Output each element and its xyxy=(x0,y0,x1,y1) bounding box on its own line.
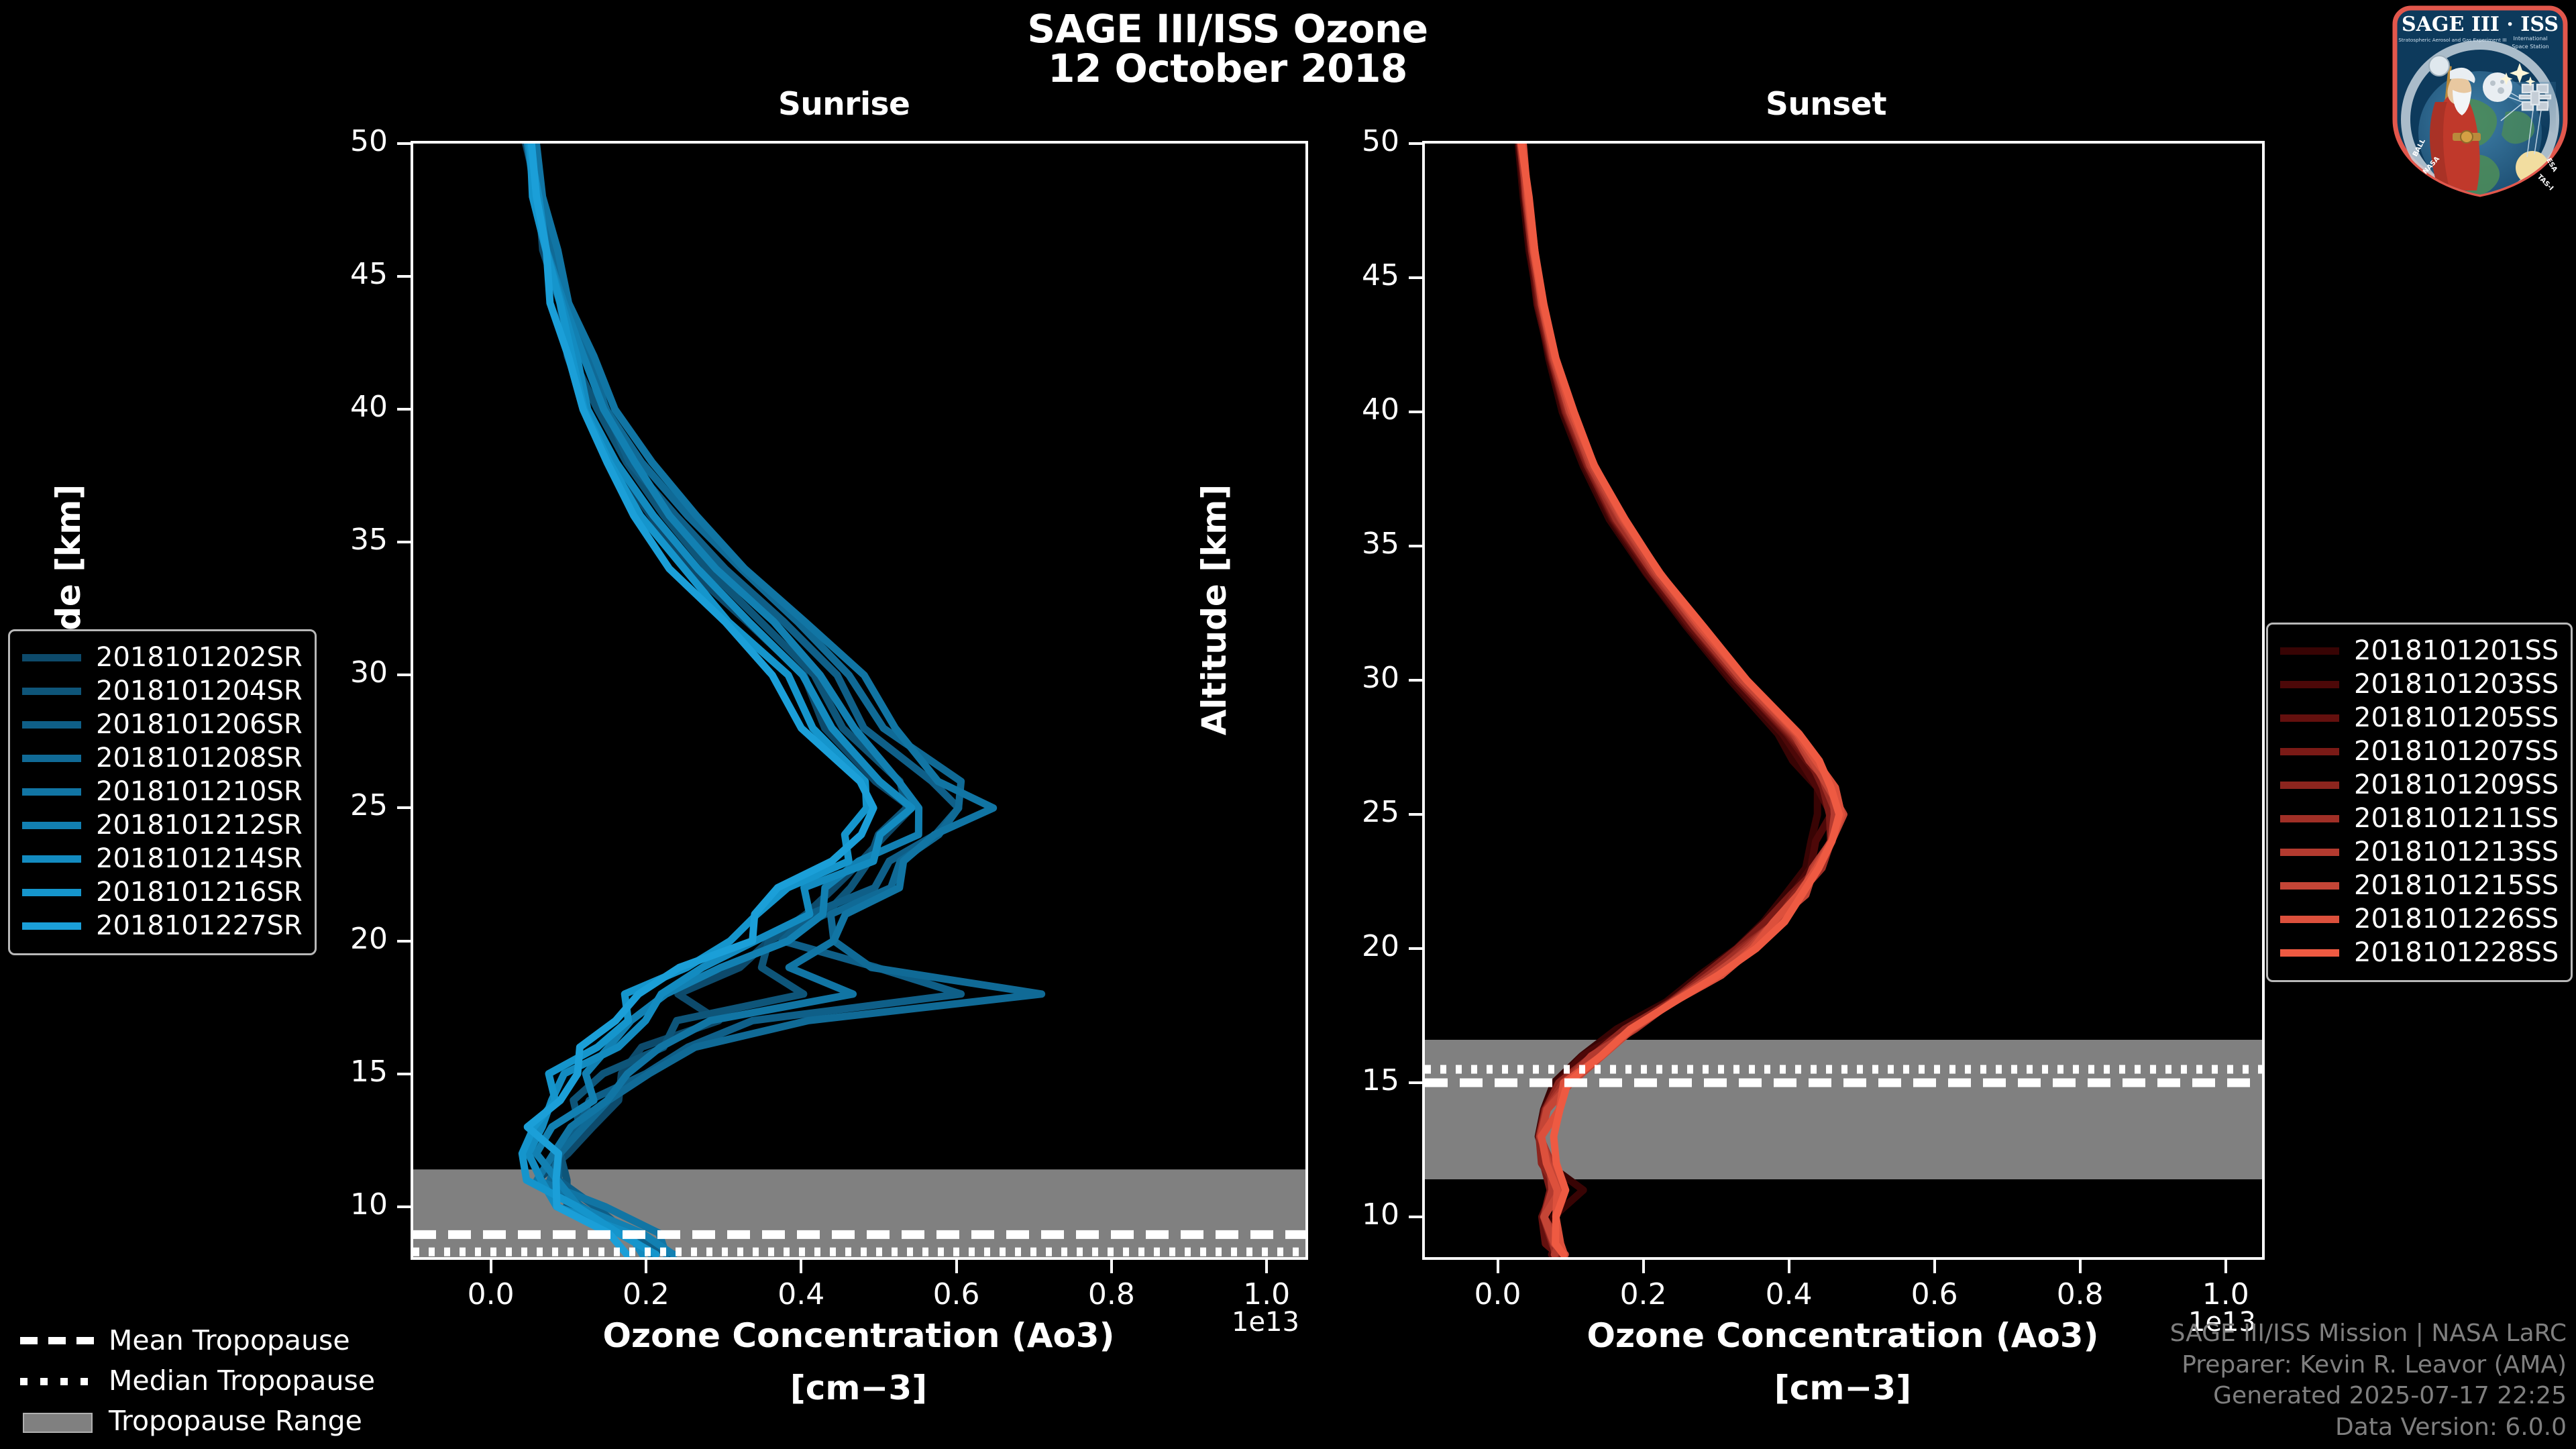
dotted-line-icon xyxy=(20,1373,94,1389)
y-tick-label: 15 xyxy=(1305,1063,1399,1097)
sunset-series-canvas xyxy=(1425,144,2262,1257)
x-axis-label-right: Ozone Concentration (Ao3) xyxy=(1421,1316,2265,1355)
sunset-series-legend[interactable]: 2018101201SS2018101203SS2018101205SS2018… xyxy=(2266,623,2573,982)
y-tick-label: 45 xyxy=(1305,258,1399,292)
y-tick-mark xyxy=(1409,679,1422,682)
legend-item-median-tropopause: Median Tropopause xyxy=(20,1360,375,1401)
y-tick-label: 40 xyxy=(1305,392,1399,427)
x-tick-label: 0.4 xyxy=(1742,1277,1836,1311)
sunset-plot-area xyxy=(1422,141,2265,1260)
series-color-swatch xyxy=(2280,916,2339,923)
legend-item[interactable]: 2018101207SS xyxy=(2280,735,2559,768)
series-color-swatch xyxy=(2280,681,2339,688)
x-tick-mark xyxy=(1642,1260,1645,1273)
patch-subtitle-right-1: International xyxy=(2513,36,2547,42)
series-color-swatch xyxy=(2280,748,2339,755)
y-tick-label: 20 xyxy=(1305,929,1399,963)
x-tick-label: 0.2 xyxy=(1597,1277,1690,1311)
credits-line-1: SAGE III/ISS Mission | NASA LaRC xyxy=(2170,1318,2567,1350)
legend-item[interactable]: 2018101212SR xyxy=(22,808,303,842)
series-legend-label: 2018101201SS xyxy=(2354,635,2559,666)
series-color-swatch xyxy=(22,755,81,762)
series-color-swatch xyxy=(22,688,81,695)
y-tick-label: 25 xyxy=(1305,795,1399,829)
y-tick-label: 50 xyxy=(1305,124,1399,158)
series-color-swatch xyxy=(2280,849,2339,856)
series-color-swatch xyxy=(22,721,81,729)
y-tick-label: 30 xyxy=(1305,661,1399,695)
legend-item[interactable]: 2018101201SS xyxy=(2280,634,2559,667)
series-legend-label: 2018101210SR xyxy=(96,776,303,807)
series-color-swatch xyxy=(2280,782,2339,789)
x-tick-label: 0.8 xyxy=(2033,1277,2127,1311)
y-tick-mark xyxy=(1409,142,1422,145)
series-color-swatch xyxy=(2280,647,2339,655)
legend-item[interactable]: 2018101228SS xyxy=(2280,936,2559,969)
tropopause-legend: Mean Tropopause Median Tropopause Tropop… xyxy=(20,1320,375,1441)
series-legend-label: 2018101212SR xyxy=(96,810,303,841)
sage-iii-iss-mission-patch-logo: BALL NASA ESA TAS-I SAGE III · ISS Strat… xyxy=(2388,1,2572,200)
y-tick-mark xyxy=(1409,813,1422,816)
patch-subtitle-left: Stratospheric Aerosol and Gas Experiment… xyxy=(2398,37,2506,43)
series-legend-label: 2018101207SS xyxy=(2354,736,2559,767)
series-color-swatch xyxy=(22,654,81,661)
series-legend-label: 2018101208SR xyxy=(96,743,303,773)
y-tick-mark xyxy=(1409,1216,1422,1218)
y-tick-mark xyxy=(1409,545,1422,547)
series-legend-label: 2018101202SR xyxy=(96,642,303,673)
dashed-line-icon xyxy=(20,1332,94,1348)
legend-item[interactable]: 2018101209SS xyxy=(2280,768,2559,802)
y-tick-mark xyxy=(1409,276,1422,279)
x-tick-label: 0.0 xyxy=(1451,1277,1545,1311)
series-legend-label: 2018101209SS xyxy=(2354,769,2559,800)
series-legend-label: 2018101211SS xyxy=(2354,803,2559,834)
x-tick-mark xyxy=(1788,1260,1790,1273)
legend-item[interactable]: 2018101202SR xyxy=(22,641,303,674)
legend-item[interactable]: 2018101213SS xyxy=(2280,835,2559,869)
series-legend-label: 2018101204SR xyxy=(96,676,303,706)
x-tick-mark xyxy=(2079,1260,2082,1273)
series-legend-label: 2018101203SS xyxy=(2354,669,2559,700)
patch-subtitle-right-2: Space Station xyxy=(2512,44,2548,50)
moon-icon xyxy=(2483,72,2512,102)
legend-item[interactable]: 2018101214SR xyxy=(22,842,303,875)
series-color-swatch xyxy=(2280,714,2339,722)
y-axis-label-right: Altitude [km] xyxy=(1195,469,1234,751)
legend-label-median: Median Tropopause xyxy=(109,1364,375,1397)
filled-band-icon xyxy=(20,1413,94,1429)
credits-line-2: Preparer: Kevin R. Leavor (AMA) xyxy=(2170,1350,2567,1381)
legend-label-range: Tropopause Range xyxy=(109,1405,362,1437)
series-color-swatch xyxy=(22,922,81,930)
series-legend-label: 2018101216SR xyxy=(96,877,303,908)
x-tick-mark xyxy=(2224,1260,2227,1273)
legend-item[interactable]: 2018101206SR xyxy=(22,708,303,741)
legend-item-mean-tropopause: Mean Tropopause xyxy=(20,1320,375,1360)
series-color-swatch xyxy=(2280,882,2339,890)
series-legend-label: 2018101227SR xyxy=(96,910,303,941)
series-color-swatch xyxy=(22,855,81,863)
series-legend-label: 2018101228SS xyxy=(2354,937,2559,968)
series-color-swatch xyxy=(2280,949,2339,957)
series-color-swatch xyxy=(22,889,81,896)
legend-item[interactable]: 2018101204SR xyxy=(22,674,303,708)
series-color-swatch xyxy=(2280,815,2339,822)
y-tick-label: 10 xyxy=(1305,1197,1399,1232)
credits-line-3: Generated 2025-07-17 22:25 xyxy=(2170,1381,2567,1412)
credits-block: SAGE III/ISS Mission | NASA LaRC Prepare… xyxy=(2170,1318,2567,1444)
legend-item-tropopause-range: Tropopause Range xyxy=(20,1401,375,1441)
x-tick-mark xyxy=(1933,1260,1936,1273)
sunset-panel: Altitude [km] 101520253035404550 0.00.20… xyxy=(0,0,2576,1449)
svg-text:ESA: ESA xyxy=(2544,157,2559,174)
sunrise-series-legend[interactable]: 2018101202SR2018101204SR2018101206SR2018… xyxy=(8,629,317,955)
x-axis-units-right: [cm−3] xyxy=(1421,1368,2265,1407)
series-legend-label: 2018101214SR xyxy=(96,843,303,874)
legend-label-mean: Mean Tropopause xyxy=(109,1324,350,1356)
wizard-figure xyxy=(2429,56,2481,191)
credits-line-4: Data Version: 6.0.0 xyxy=(2170,1412,2567,1444)
x-tick-label: 0.6 xyxy=(1888,1277,1982,1311)
series-legend-label: 2018101215SS xyxy=(2354,870,2559,901)
series-color-swatch xyxy=(22,822,81,829)
y-tick-mark xyxy=(1409,411,1422,413)
legend-item[interactable]: 2018101203SS xyxy=(2280,667,2559,701)
legend-item[interactable]: 2018101215SS xyxy=(2280,869,2559,902)
y-tick-mark xyxy=(1409,947,1422,950)
legend-item[interactable]: 2018101211SS xyxy=(2280,802,2559,835)
legend-item[interactable]: 2018101226SS xyxy=(2280,902,2559,936)
y-tick-label: 35 xyxy=(1305,527,1399,561)
x-tick-mark xyxy=(1497,1260,1499,1273)
svg-text:TAS-I: TAS-I xyxy=(2536,173,2555,192)
series-legend-label: 2018101213SS xyxy=(2354,837,2559,867)
legend-item[interactable]: 2018101210SR xyxy=(22,775,303,808)
series-legend-label: 2018101205SS xyxy=(2354,702,2559,733)
legend-item[interactable]: 2018101208SR xyxy=(22,741,303,775)
mission-patch-svg: BALL NASA ESA TAS-I SAGE III · ISS Strat… xyxy=(2388,1,2572,200)
patch-title: SAGE III · ISS xyxy=(2402,13,2559,36)
legend-item[interactable]: 2018101216SR xyxy=(22,875,303,909)
legend-item[interactable]: 2018101227SR xyxy=(22,909,303,943)
series-legend-label: 2018101206SR xyxy=(96,709,303,740)
y-tick-mark xyxy=(1409,1081,1422,1084)
series-legend-label: 2018101226SS xyxy=(2354,904,2559,934)
series-color-swatch xyxy=(22,788,81,796)
legend-item[interactable]: 2018101205SS xyxy=(2280,701,2559,735)
